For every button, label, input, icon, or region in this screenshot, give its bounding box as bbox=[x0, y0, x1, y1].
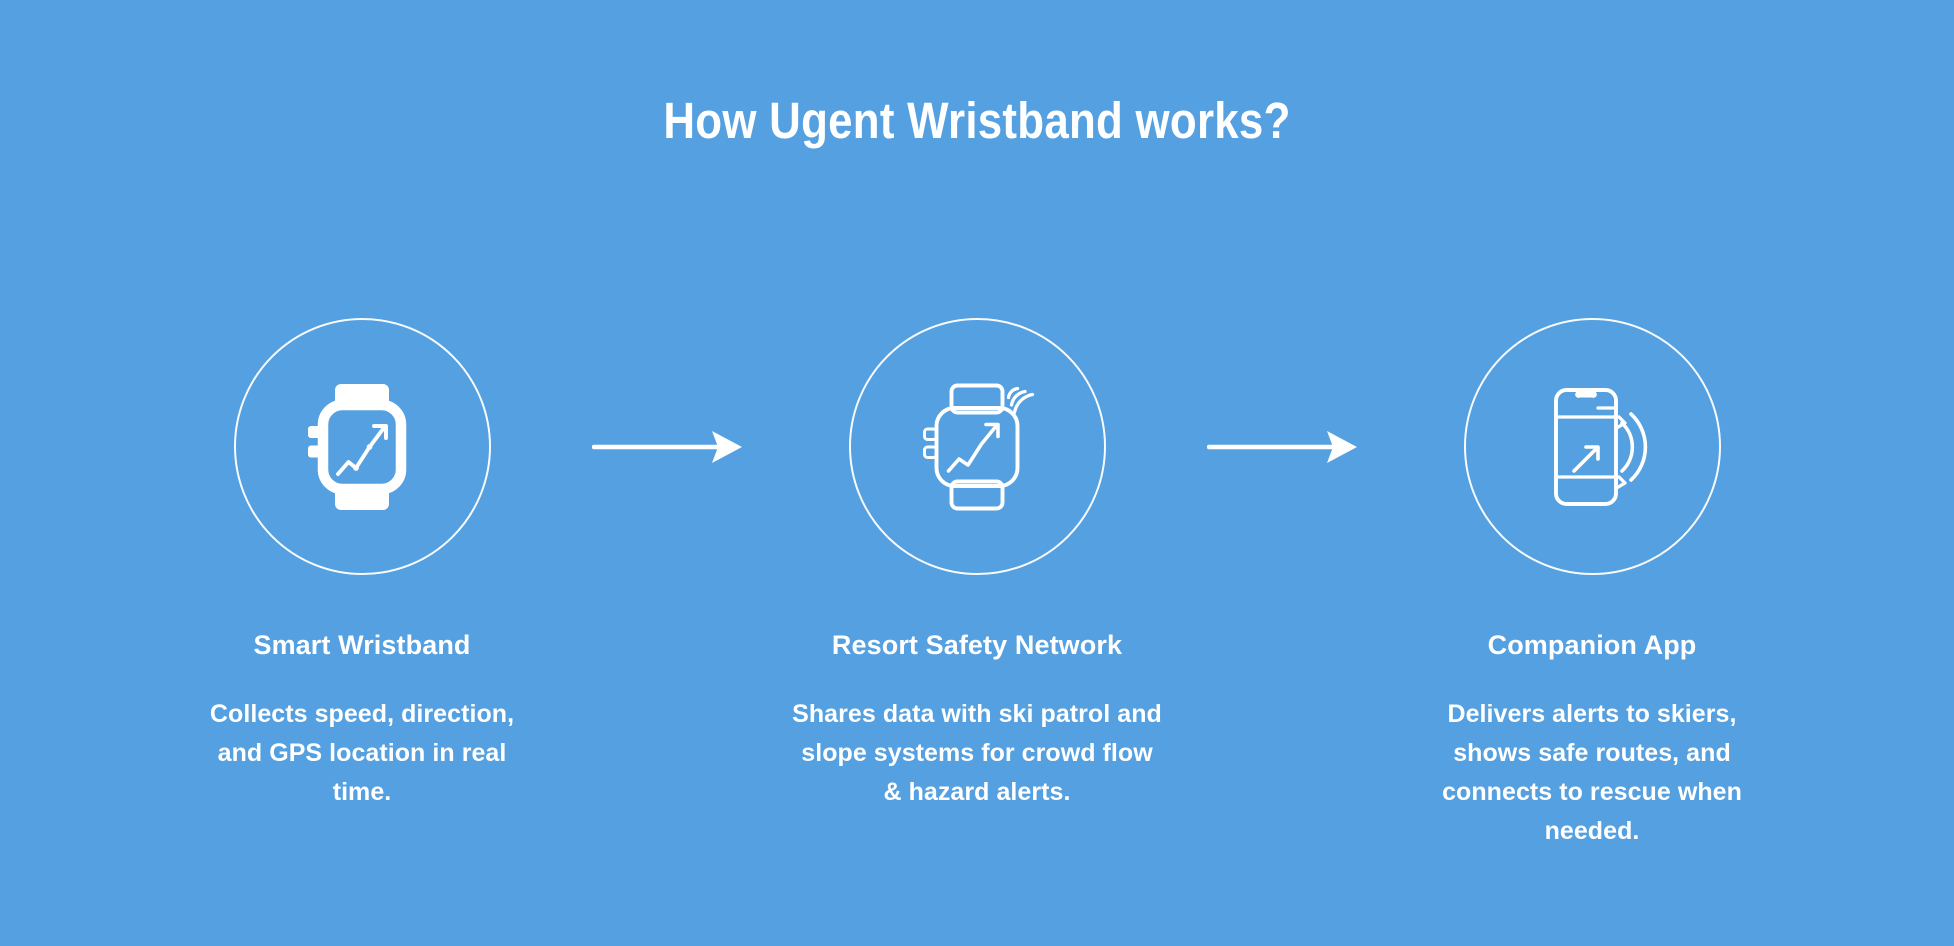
step-1-title: Smart Wristband bbox=[253, 628, 470, 662]
arrow-right-icon bbox=[1207, 427, 1362, 467]
page-title: How Ugent Wristband works? bbox=[137, 92, 1817, 150]
step-2-icon-circle: smartwatch-signal-icon bbox=[849, 318, 1106, 575]
connector-arrow-2: arrow-right-icon bbox=[1192, 318, 1377, 575]
step-3-icon-circle: smartphone-signal-icon bbox=[1464, 318, 1721, 575]
smartwatch-signal-icon bbox=[902, 372, 1052, 522]
smartphone-signal-icon bbox=[1517, 372, 1667, 522]
process-flow-diagram: smartwatch-chart-icon bbox=[0, 318, 1954, 851]
step-2-title: Resort Safety Network bbox=[832, 628, 1122, 662]
step-2-description: Shares data with ski patrol and slope sy… bbox=[791, 695, 1163, 812]
connector-arrow-1: arrow-right-icon bbox=[577, 318, 762, 575]
slide-canvas: How Ugent Wristband works? smartwatch-ch… bbox=[0, 0, 1954, 946]
step-1: smartwatch-chart-icon bbox=[147, 318, 577, 812]
step-3-title: Companion App bbox=[1488, 628, 1697, 662]
arrow-right-icon bbox=[592, 427, 747, 467]
step-3-description: Delivers alerts to skiers, shows safe ro… bbox=[1420, 695, 1765, 851]
step-1-description: Collects speed, direction, and GPS locat… bbox=[197, 695, 527, 812]
smartwatch-chart-icon bbox=[287, 372, 437, 522]
step-3: smartphone-signal-icon bbox=[1377, 318, 1807, 851]
step-2: smartwatch-signal-icon bbox=[762, 318, 1192, 812]
step-1-icon-circle: smartwatch-chart-icon bbox=[234, 318, 491, 575]
